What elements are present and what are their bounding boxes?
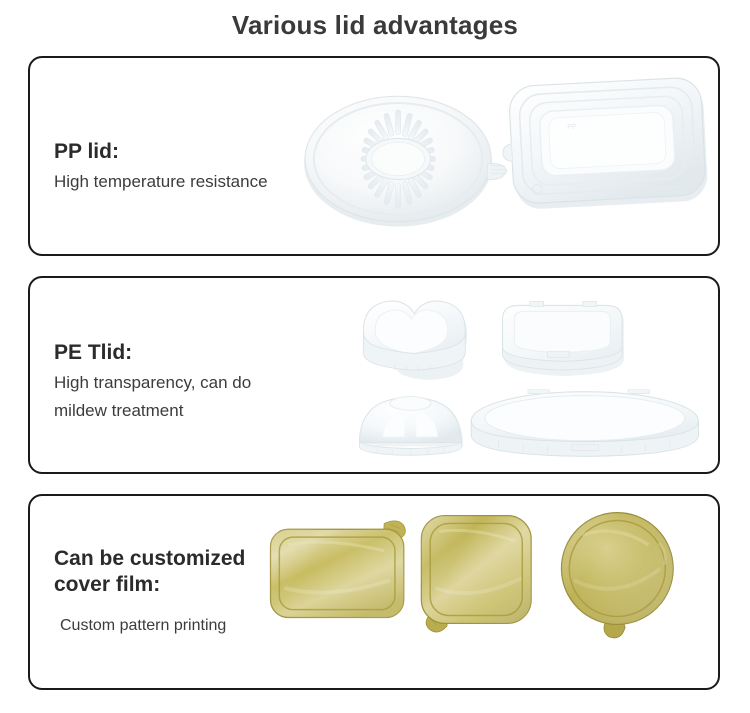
- pe-lid-illustration: [338, 278, 718, 472]
- oval-pe-lid: [471, 390, 698, 457]
- dome-pe-cup-lid: [359, 397, 463, 457]
- pe-lid-text-block: PE Tlid: High transparency, can do milde…: [54, 340, 251, 425]
- pp-lid-illustration: PP: [288, 58, 718, 254]
- custom-cover-film-subtitle: Custom pattern printing: [54, 612, 245, 640]
- pp-lid-text-block: PP lid: High temperature resistance: [54, 139, 268, 196]
- pp-lid-subtitle: High temperature resistance: [54, 168, 268, 196]
- custom-cover-film-text-block: Can be customized cover film: Custom pat…: [54, 546, 245, 640]
- square-pe-lid: [503, 302, 624, 376]
- pe-lid-subtitle: High transparency, can do mildew treatme…: [54, 369, 251, 425]
- card-custom-cover-film: Can be customized cover film: Custom pat…: [28, 494, 720, 690]
- custom-cover-film-heading: Can be customized cover film:: [54, 546, 245, 598]
- pp-lid-heading: PP lid:: [54, 139, 268, 164]
- svg-text:PP: PP: [567, 123, 577, 130]
- rectangular-pp-lid: PP: [500, 77, 709, 211]
- round-ribbed-pp-lid: [304, 96, 507, 226]
- gold-round-foil-lid: [561, 513, 673, 638]
- card-pp-lid: PP lid: High temperature resistance: [28, 56, 720, 256]
- gold-rectangular-foil-lid: [271, 521, 406, 618]
- custom-cover-film-illustration: [258, 496, 718, 688]
- heart-shaped-pe-dome-lid: [363, 301, 467, 380]
- card-pe-lid: PE Tlid: High transparency, can do milde…: [28, 276, 720, 474]
- pe-lid-heading: PE Tlid:: [54, 340, 251, 365]
- page-title: Various lid advantages: [0, 9, 750, 41]
- gold-square-foil-lid: [421, 516, 531, 632]
